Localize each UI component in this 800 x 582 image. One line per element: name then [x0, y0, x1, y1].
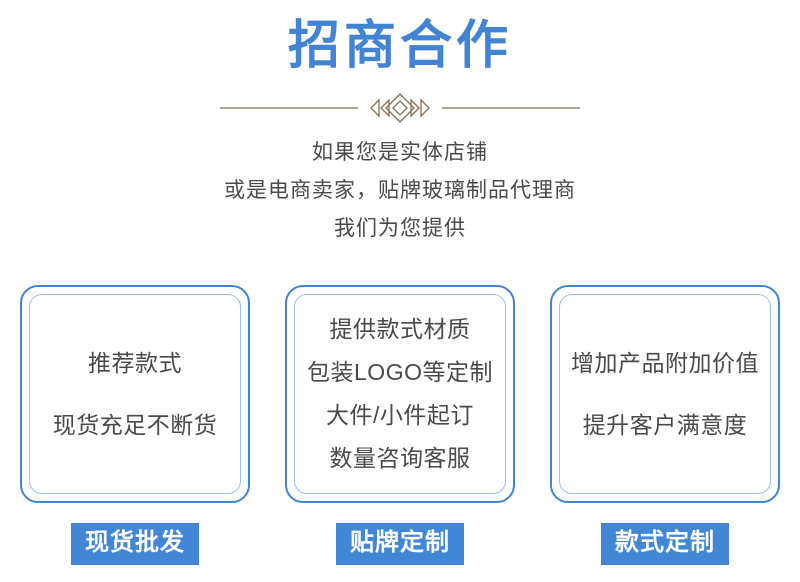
feature-card-2-line-3: 大件/小件起订	[326, 394, 474, 437]
intro-line-2: 或是电商卖家，贴牌玻璃制品代理商	[0, 172, 800, 210]
page-title: 招商合作	[0, 0, 800, 80]
badge-style-customization[interactable]: 款式定制	[601, 523, 729, 565]
feature-card-2-line-4: 数量咨询客服	[330, 437, 471, 480]
feature-card-3-line-2: 提升客户满意度	[583, 394, 748, 456]
badge-slot-1: 现货批发	[20, 523, 250, 565]
feature-card-2[interactable]: 提供款式材质 包装LOGO等定制 大件/小件起订 数量咨询客服	[285, 285, 515, 503]
feature-card-row: 推荐款式 现货充足不断货 提供款式材质 包装LOGO等定制 大件/小件起订 数量…	[0, 285, 800, 503]
feature-card-1[interactable]: 推荐款式 现货充足不断货	[20, 285, 250, 503]
feature-card-1-body: 推荐款式 现货充足不断货	[29, 294, 241, 494]
feature-card-3-body: 增加产品附加价值 提升客户满意度	[559, 294, 771, 494]
ornamental-divider	[165, 92, 635, 124]
feature-card-2-line-1: 提供款式材质	[330, 308, 471, 351]
badge-slot-2: 贴牌定制	[285, 523, 515, 565]
intro-line-3: 我们为您提供	[0, 210, 800, 248]
feature-card-1-line-1: 推荐款式	[88, 332, 182, 394]
intro-line-1: 如果您是实体店铺	[0, 134, 800, 172]
badge-oem-customization[interactable]: 贴牌定制	[336, 523, 464, 565]
badge-spot-wholesale[interactable]: 现货批发	[71, 523, 199, 565]
feature-card-3-line-1: 增加产品附加价值	[571, 332, 759, 394]
badge-slot-3: 款式定制	[550, 523, 780, 565]
badge-row: 现货批发 贴牌定制 款式定制	[0, 523, 800, 565]
feature-card-1-line-2: 现货充足不断货	[53, 394, 218, 456]
divider-ornament-icon	[165, 92, 635, 124]
feature-card-2-body: 提供款式材质 包装LOGO等定制 大件/小件起订 数量咨询客服	[294, 294, 506, 494]
feature-card-3[interactable]: 增加产品附加价值 提升客户满意度	[550, 285, 780, 503]
feature-card-2-line-2: 包装LOGO等定制	[307, 351, 493, 394]
intro-paragraph: 如果您是实体店铺 或是电商卖家，贴牌玻璃制品代理商 我们为您提供	[0, 134, 800, 248]
